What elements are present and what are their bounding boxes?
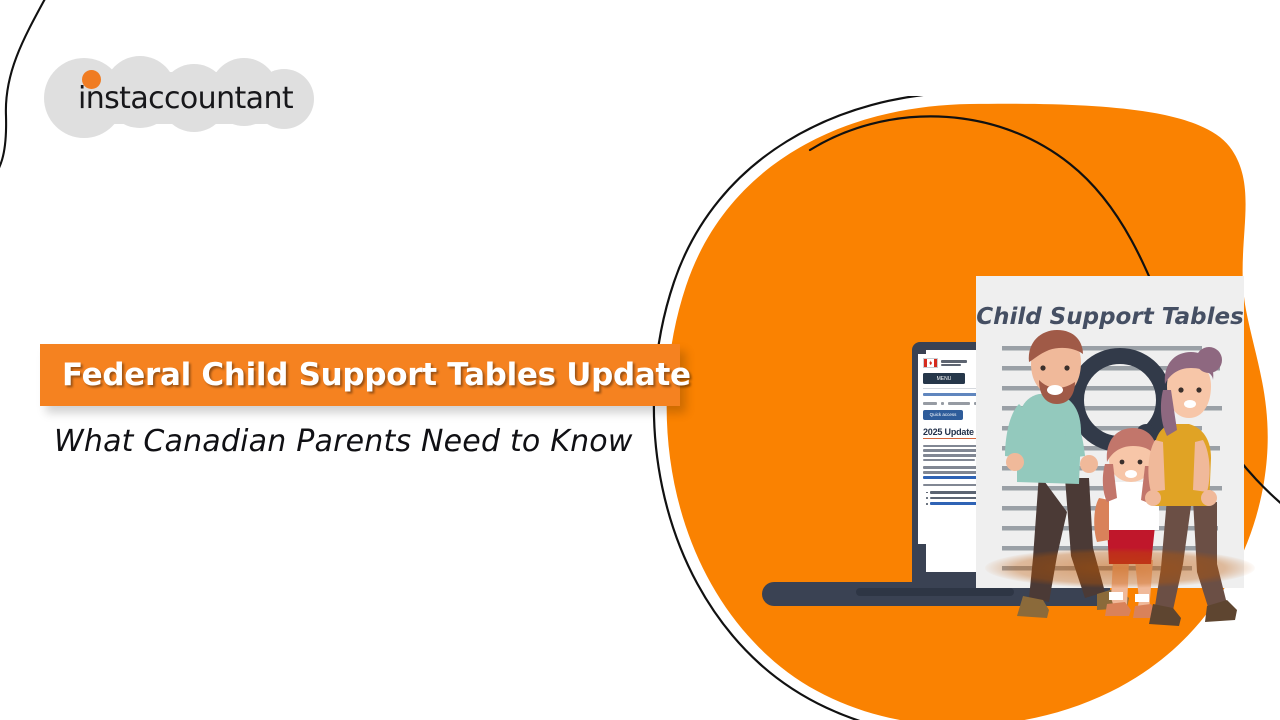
- headline-banner: Federal Child Support Tables Update: [40, 344, 680, 406]
- menu-button[interactable]: MENU: [923, 373, 965, 384]
- mother-figure: [1145, 347, 1237, 626]
- family-illustration: [995, 328, 1255, 628]
- logo-wordmark: instaccountant: [78, 81, 293, 116]
- document-title: Child Support Tables: [976, 304, 1244, 330]
- slide-canvas: instaccountant Federal Child Support Tab…: [0, 0, 1280, 720]
- page-title: Federal Child Support Tables Update: [62, 357, 691, 393]
- brand-logo[interactable]: instaccountant: [44, 54, 314, 140]
- page-subtitle: What Canadian Parents Need to Know: [54, 424, 633, 459]
- gov-wordmark: [941, 360, 967, 366]
- canada-flag-icon: [923, 358, 938, 368]
- quick-access-button[interactable]: Quick access: [923, 410, 963, 420]
- hero-illustration: MENU Quick access 2025 Update to the: [740, 250, 1280, 630]
